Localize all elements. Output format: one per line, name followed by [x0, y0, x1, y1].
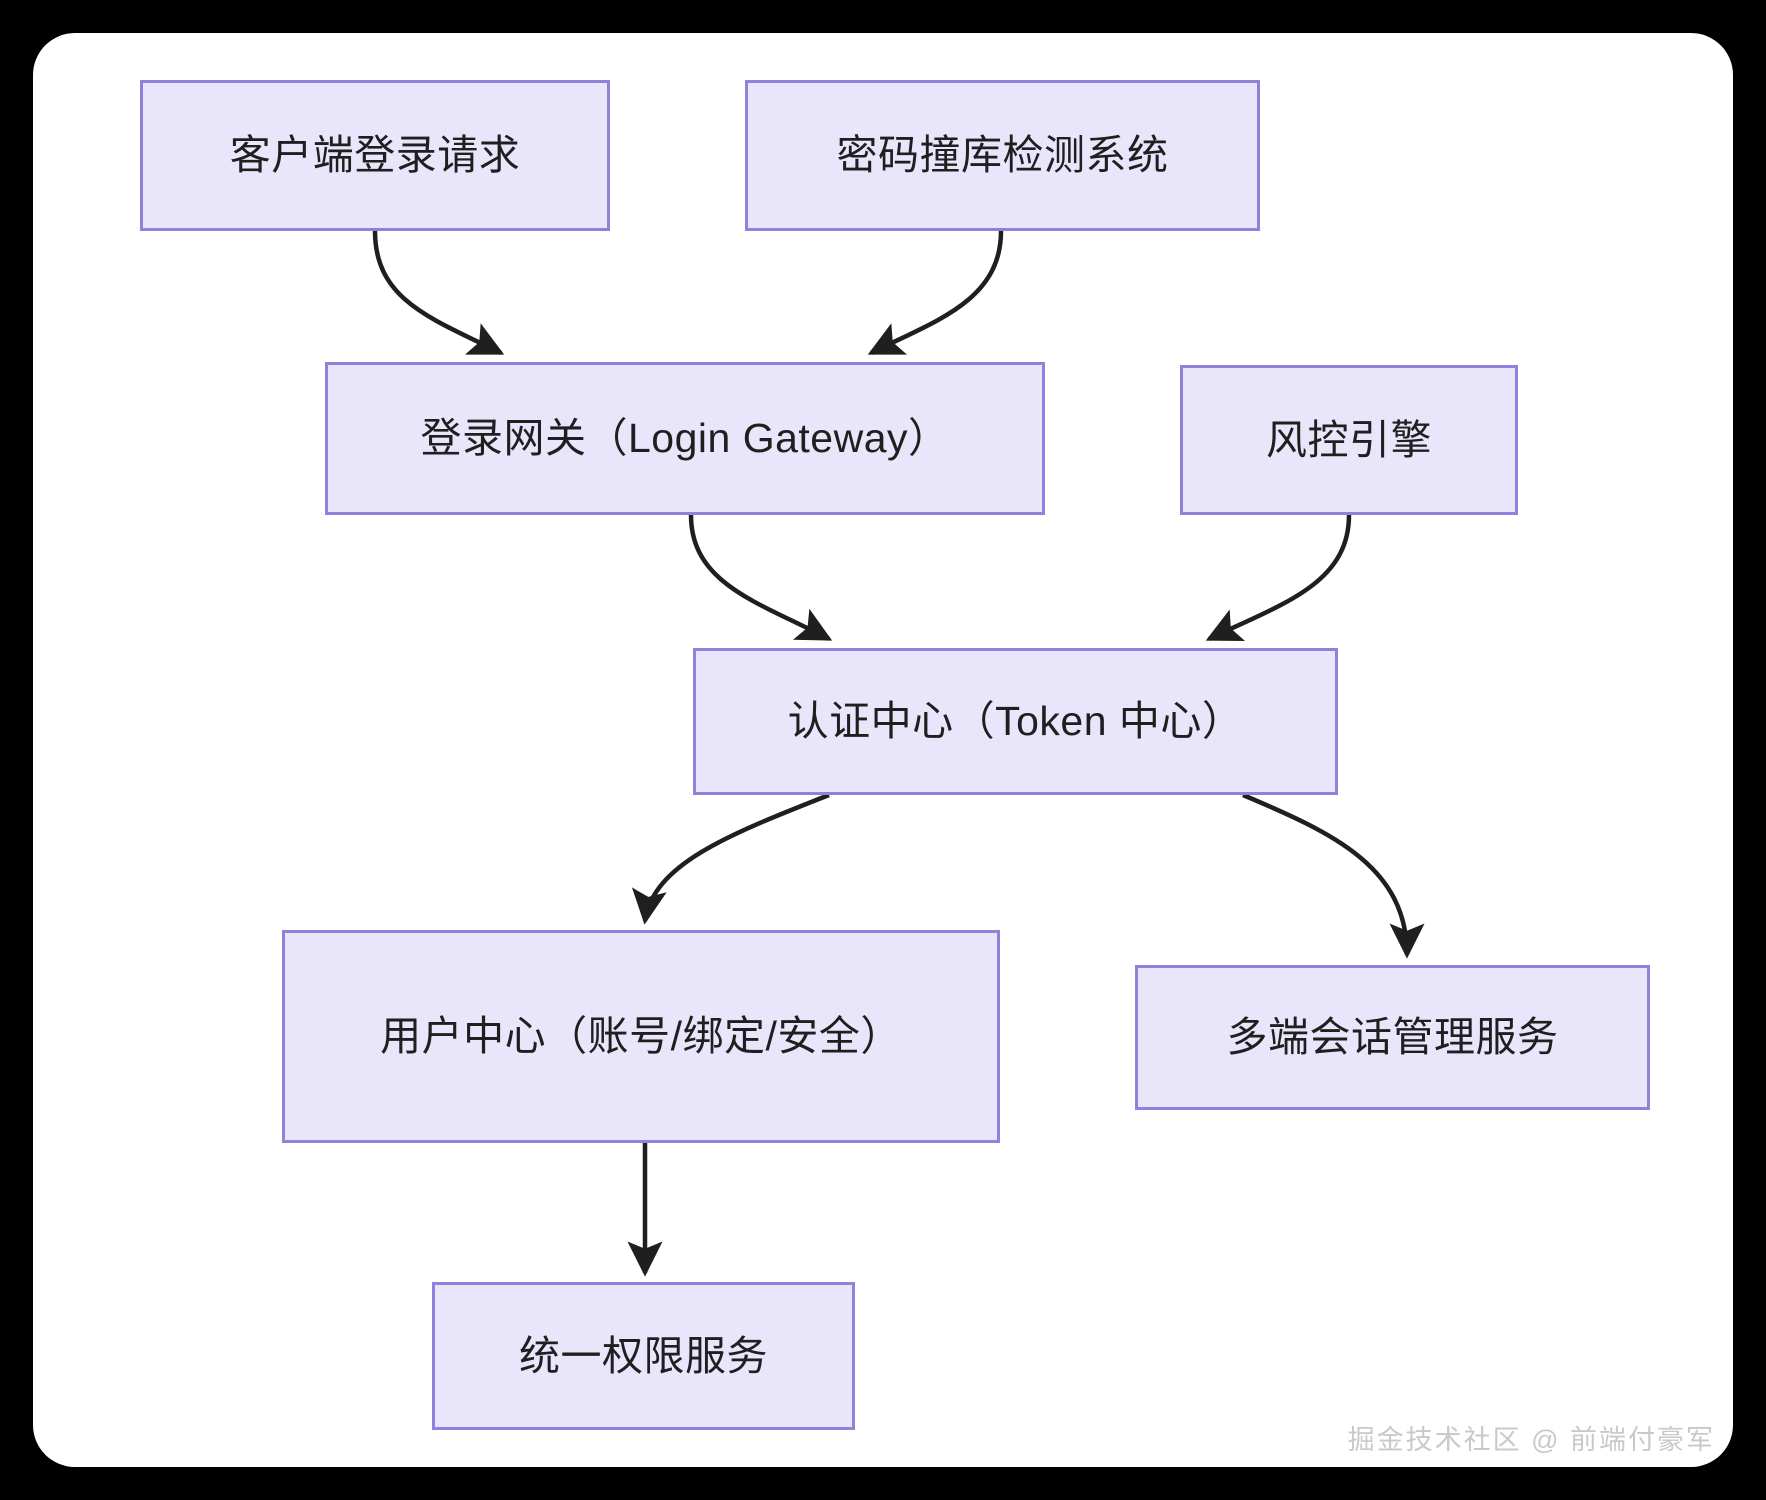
- node-risk-engine[interactable]: 风控引擎: [1180, 365, 1518, 515]
- node-login-gateway[interactable]: 登录网关（Login Gateway）: [325, 362, 1045, 515]
- edge-auth-center-to-user-center: [645, 795, 829, 921]
- node-multi-device-session-service[interactable]: 多端会话管理服务: [1135, 965, 1650, 1110]
- node-label: 认证中心（Token 中心）: [710, 692, 1321, 750]
- screenshot-canvas: 客户端登录请求 密码撞库检测系统 登录网关（Login Gateway） 风控引…: [0, 0, 1766, 1500]
- node-client-login-request[interactable]: 客户端登录请求: [140, 80, 610, 231]
- node-label: 统一权限服务: [449, 1327, 838, 1385]
- node-label: 登录网关（Login Gateway）: [342, 409, 1028, 467]
- node-unified-permission-service[interactable]: 统一权限服务: [432, 1282, 855, 1430]
- edge-auth-center-to-multi-device-session: [1243, 795, 1407, 955]
- node-label: 客户端登录请求: [157, 126, 593, 184]
- watermark-text: 掘金技术社区 @ 前端付豪军: [1348, 1418, 1715, 1457]
- node-label: 密码撞库检测系统: [762, 126, 1243, 184]
- node-label: 风控引擎: [1197, 411, 1501, 469]
- edge-risk-engine-to-auth-center: [1209, 515, 1349, 639]
- edge-credential-stuffing-to-login-gateway: [871, 231, 1001, 353]
- diagram-board: 客户端登录请求 密码撞库检测系统 登录网关（Login Gateway） 风控引…: [33, 33, 1733, 1467]
- node-label: 多端会话管理服务: [1152, 1008, 1633, 1066]
- node-label: 用户中心（账号/绑定/安全）: [349, 1007, 933, 1065]
- node-credential-stuffing-detection[interactable]: 密码撞库检测系统: [745, 80, 1260, 231]
- edge-login-gateway-to-auth-center: [691, 515, 829, 639]
- edge-client-login-request-to-login-gateway: [375, 231, 501, 353]
- node-user-center[interactable]: 用户中心（账号/绑定/安全）: [282, 930, 1000, 1143]
- node-auth-center[interactable]: 认证中心（Token 中心）: [693, 648, 1338, 795]
